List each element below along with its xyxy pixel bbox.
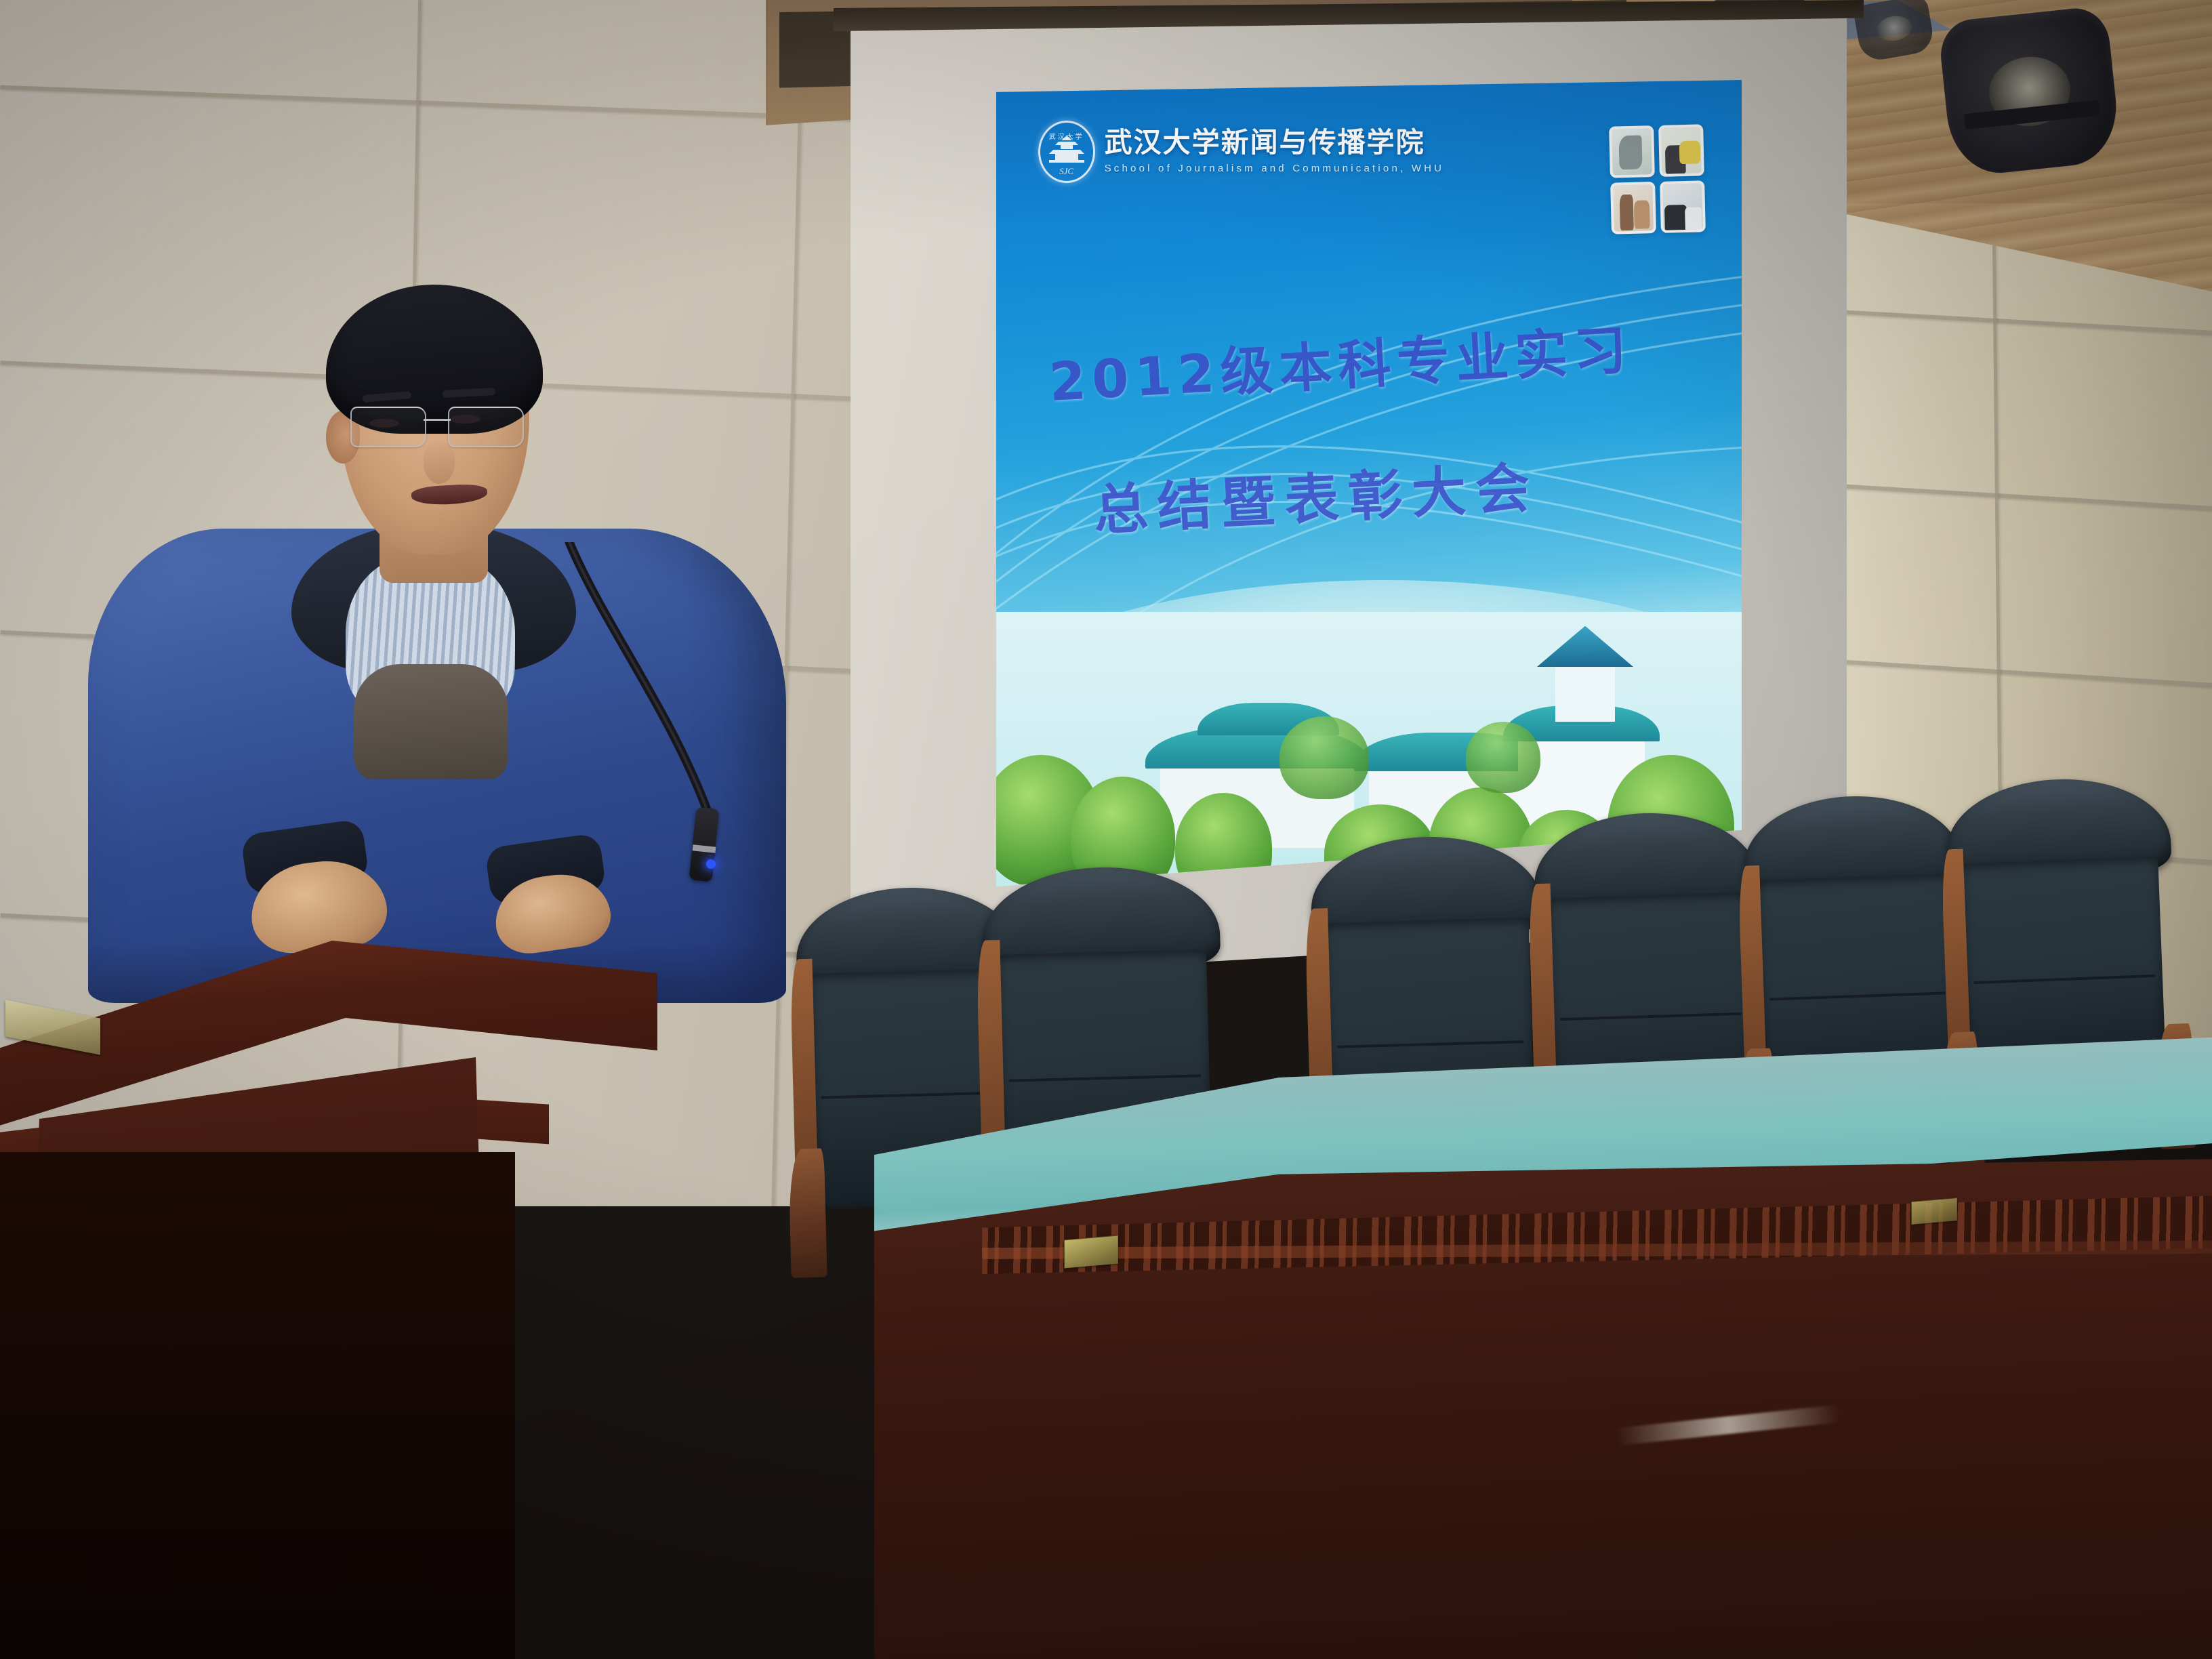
table-nameplate — [1064, 1235, 1118, 1269]
stage-spotlight-icon — [1938, 5, 2123, 178]
presentation-slide: 武汉大学 SJC 武汉大学新闻与传播学院 School of Journalis… — [996, 80, 1742, 886]
pagoda-icon — [1049, 136, 1084, 163]
slide-title-line-1: 2012级本科专业实习 — [1047, 304, 1706, 416]
glasses-lens-right — [448, 407, 524, 447]
slide-org-name-en: School of Journalism and Communication, … — [1105, 163, 1445, 174]
whu-seal-icon: 武汉大学 SJC — [1038, 121, 1095, 183]
photo-scene: 武汉大学 SJC 武汉大学新闻与传播学院 School of Journalis… — [0, 0, 2212, 1659]
slide-thumbnail — [1660, 180, 1706, 233]
slide-thumbnail — [1658, 124, 1704, 177]
slide-thumbnail-grid — [1609, 124, 1706, 234]
conference-table — [874, 1037, 2212, 1659]
glasses-bridge — [424, 419, 451, 421]
speaker-sweater — [354, 664, 508, 779]
speaker-eye — [451, 415, 480, 424]
table-nameplate — [1911, 1197, 1957, 1225]
slide-title-line-2: 总结暨表彰大会 — [1092, 434, 1721, 546]
slide-thumbnail — [1609, 125, 1655, 178]
podium-base-shadow — [0, 1152, 515, 1659]
speaker-eye — [369, 419, 399, 428]
speaker-nose — [424, 442, 455, 484]
microphone-led-indicator — [706, 859, 716, 869]
school-logo-lockup: 武汉大学 SJC 武汉大学新闻与传播学院 School of Journalis… — [1038, 121, 1445, 183]
slide-org-name-cn: 武汉大学新闻与传播学院 — [1105, 129, 1445, 157]
slide-thumbnail — [1610, 182, 1656, 234]
seal-monogram: SJC — [1059, 166, 1073, 177]
speaker-head — [322, 285, 546, 569]
